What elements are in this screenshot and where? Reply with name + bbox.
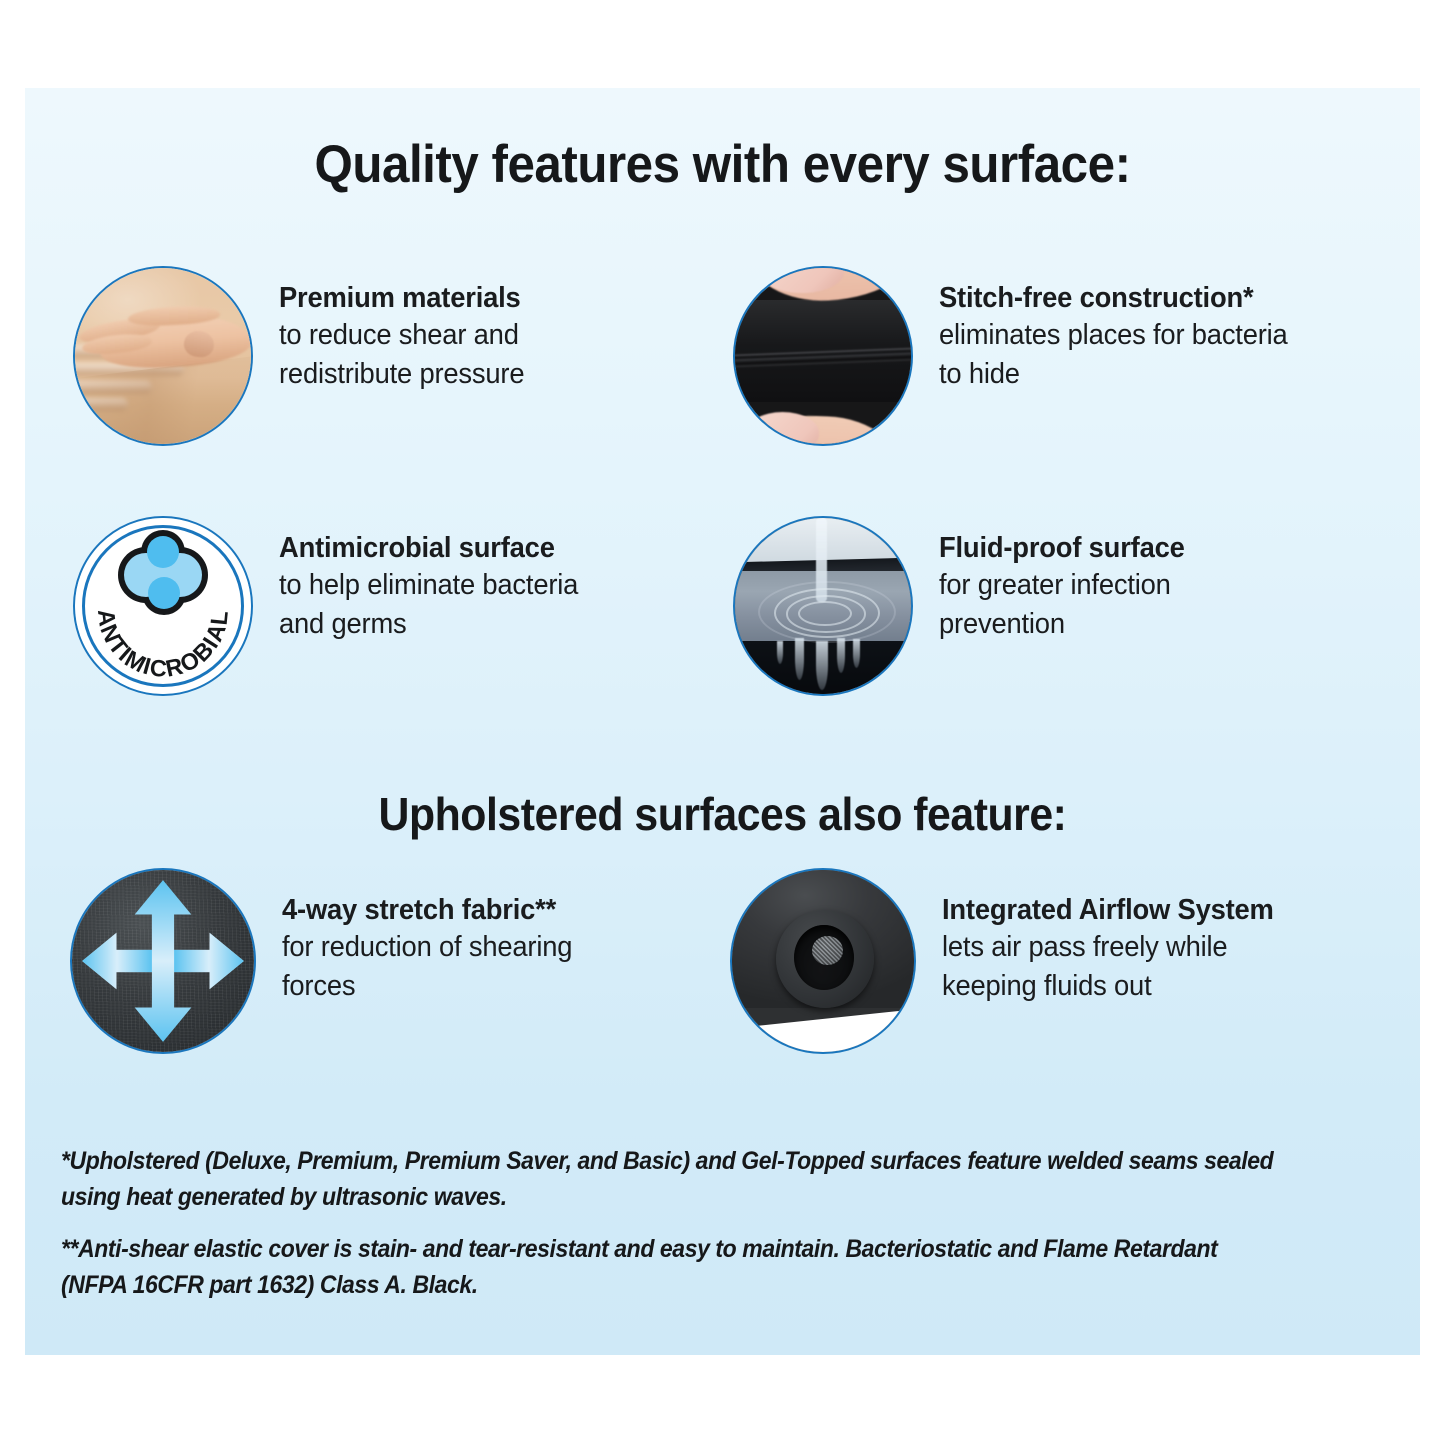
feature-description: lets air pass freely while keeping fluid…: [942, 928, 1274, 1006]
footnotes: *Upholstered (Deluxe, Premium, Premium S…: [61, 1143, 1381, 1319]
water-on-surface-icon: [733, 516, 913, 696]
feature-item-premium-materials: Premium materials to reduce shear and re…: [73, 266, 693, 446]
page-title: Quality features with every surface:: [74, 136, 1371, 194]
feature-text-block: Stitch-free construction* eliminates pla…: [939, 266, 1302, 394]
feature-text-block: Antimicrobial surface to help eliminate …: [279, 516, 591, 644]
antimicrobial-label-text: ANTIMICROBIAL: [93, 608, 233, 682]
feature-text-block: Integrated Airflow System lets air pass …: [942, 868, 1288, 1006]
hand-pressing-foam-icon: [73, 266, 253, 446]
feature-title: Integrated Airflow System: [942, 892, 1274, 928]
airflow-vent-icon: [730, 868, 916, 1054]
feature-text-block: 4-way stretch fabric** for reduction of …: [282, 868, 584, 1006]
feature-title: Antimicrobial surface: [279, 530, 578, 566]
feature-item-four-way-stretch: 4-way stretch fabric** for reduction of …: [70, 868, 690, 1054]
infographic-panel: Quality features with every surface: Pre…: [25, 88, 1420, 1355]
feature-item-antimicrobial-surface: ANTIMICROBIAL Antimicrobial surface to h…: [73, 516, 693, 696]
feature-text-block: Fluid-proof surface for greater infectio…: [939, 516, 1195, 644]
feature-title: Fluid-proof surface: [939, 530, 1185, 566]
feature-item-stitch-free-construction: Stitch-free construction* eliminates pla…: [733, 266, 1383, 446]
feature-description: eliminates places for bacteria to hide: [939, 316, 1288, 394]
feature-description: for greater infection prevention: [939, 566, 1185, 644]
footnote-single-asterisk: *Upholstered (Deluxe, Premium, Premium S…: [61, 1143, 1275, 1215]
feature-description: to help eliminate bacteria and germs: [279, 566, 578, 644]
feature-item-integrated-airflow: Integrated Airflow System lets air pass …: [730, 868, 1380, 1054]
antimicrobial-badge-icon: ANTIMICROBIAL: [73, 516, 253, 696]
svg-text:ANTIMICROBIAL: ANTIMICROBIAL: [93, 608, 233, 682]
antimicrobial-label: ANTIMICROBIAL: [75, 518, 251, 694]
section-title-upholstered: Upholstered surfaces also feature:: [74, 788, 1371, 840]
four-way-arrow-glyph: [72, 870, 254, 1052]
feature-description: for reduction of shearing forces: [282, 928, 572, 1006]
feature-description: to reduce shear and redistribute pressur…: [279, 316, 524, 394]
four-way-arrow-icon: [70, 868, 256, 1054]
feature-title: Stitch-free construction*: [939, 280, 1288, 316]
feature-title: Premium materials: [279, 280, 524, 316]
footnote-double-asterisk: **Anti-shear elastic cover is stain- and…: [61, 1231, 1275, 1303]
welded-seam-icon: [733, 266, 913, 446]
feature-text-block: Premium materials to reduce shear and re…: [279, 266, 535, 394]
feature-title: 4-way stretch fabric**: [282, 892, 572, 928]
feature-item-fluid-proof-surface: Fluid-proof surface for greater infectio…: [733, 516, 1383, 696]
